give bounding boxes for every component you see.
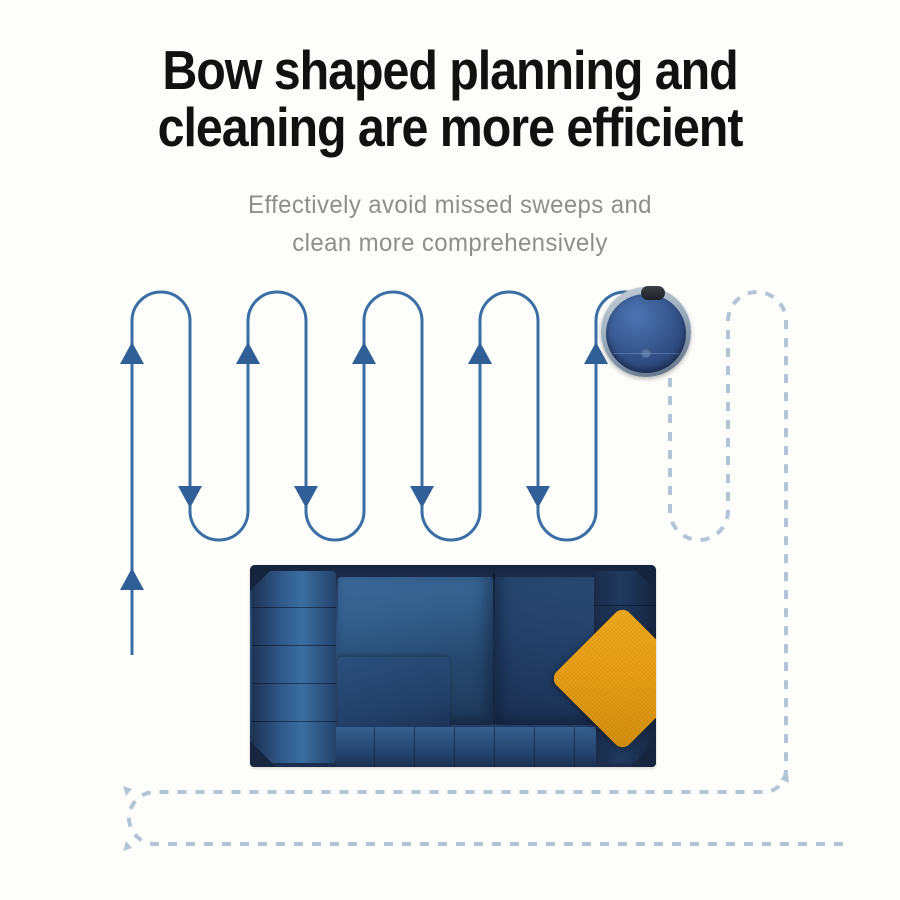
arrow-down-icon	[178, 486, 202, 508]
robot-vacuum-sensor-icon	[641, 348, 651, 358]
arrow-up-icon	[236, 342, 260, 364]
arrow-up-icon	[468, 342, 492, 364]
sofa-center-seam	[493, 573, 495, 725]
sofa-body	[250, 565, 656, 767]
arrow-up-icon	[120, 342, 144, 364]
arrow-down-icon	[294, 486, 318, 508]
arrow-down-icon	[526, 486, 550, 508]
arrow-up-icon	[352, 342, 376, 364]
robot-vacuum-top-cover	[606, 294, 686, 373]
sofa-cushion-front-left	[338, 657, 450, 731]
dashed-path-corner-marks	[123, 774, 789, 851]
poster-root: Bow shaped planning and cleaning are mor…	[0, 0, 900, 900]
sofa-armrest-left	[252, 571, 336, 763]
robot-vacuum-bumper-icon	[641, 286, 665, 300]
sofa-top-view	[250, 565, 656, 767]
arrow-down-icon	[410, 486, 434, 508]
sofa-front-edge	[336, 727, 596, 767]
arrow-up-icon	[120, 568, 144, 590]
robot-vacuum	[601, 287, 691, 377]
